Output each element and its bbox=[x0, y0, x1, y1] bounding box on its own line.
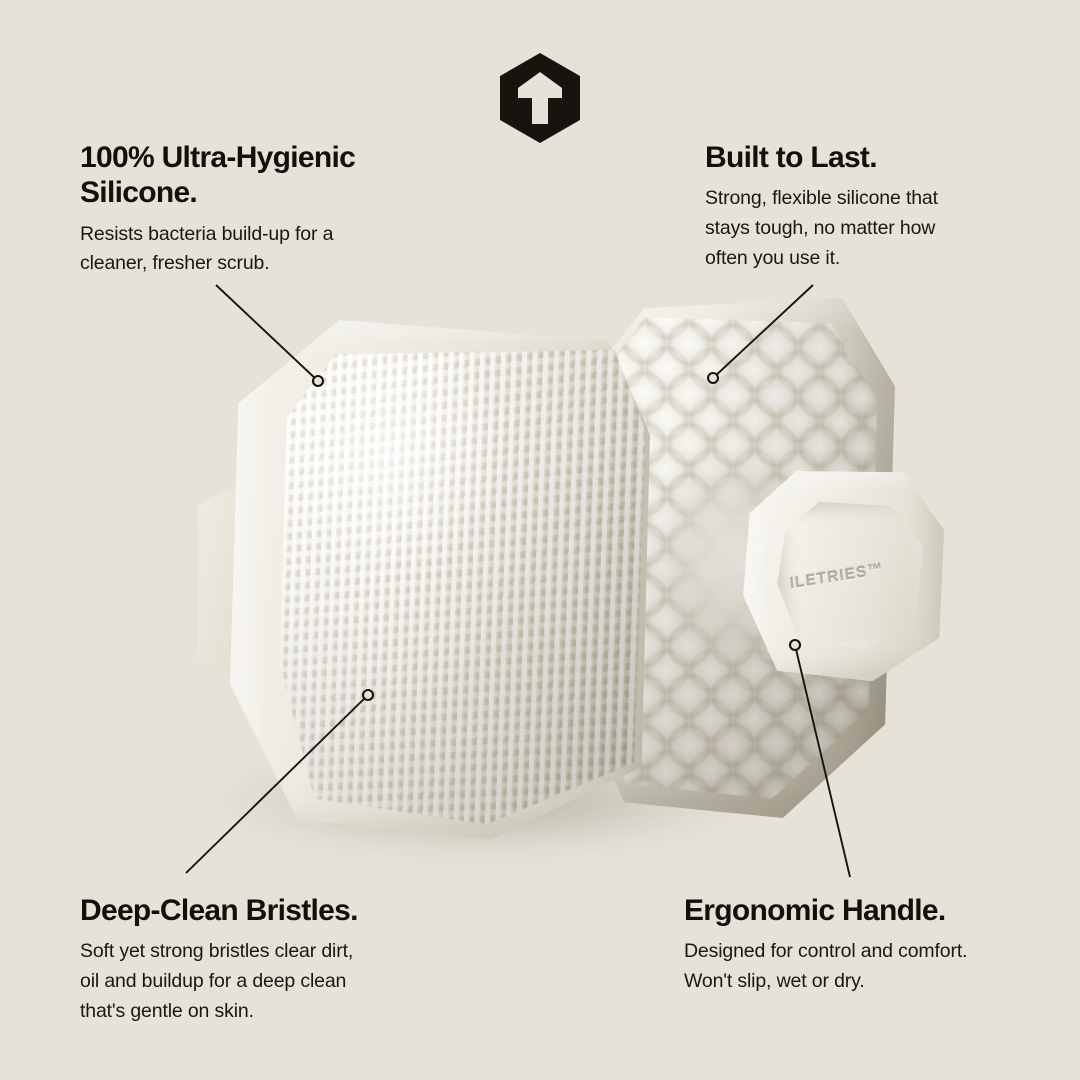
callout-bristles-body: Soft yet strong bristles clear dirt, oil… bbox=[80, 937, 425, 1026]
brand-logo-icon bbox=[498, 52, 582, 144]
bristle-shading bbox=[280, 333, 646, 827]
callout-durable-body: Strong, flexible silicone that stays tou… bbox=[705, 184, 1005, 273]
product-image-silicone-scrubber: ILETRIES™ bbox=[150, 290, 940, 850]
callout-durable-heading: Built to Last. bbox=[705, 140, 1005, 175]
product-bristle-head bbox=[230, 320, 650, 840]
callout-handle-body: Designed for control and comfort. Won't … bbox=[684, 937, 1014, 996]
callout-hygienic-heading: 100% Ultra-Hygienic Silicone. bbox=[80, 140, 410, 211]
product-ergonomic-handle: ILETRIES™ bbox=[735, 461, 954, 690]
callout-handle: Ergonomic Handle. Designed for control a… bbox=[684, 893, 1014, 997]
callout-durable: Built to Last. Strong, flexible silicone… bbox=[705, 140, 1005, 273]
bristle-field bbox=[280, 333, 646, 827]
callout-bristles: Deep-Clean Bristles. Soft yet strong bri… bbox=[80, 893, 425, 1026]
callout-hygienic: 100% Ultra-Hygienic Silicone. Resists ba… bbox=[80, 140, 410, 279]
callout-hygienic-body: Resists bacteria build-up for a cleaner,… bbox=[80, 220, 410, 279]
callout-handle-heading: Ergonomic Handle. bbox=[684, 893, 1014, 928]
callout-bristles-heading: Deep-Clean Bristles. bbox=[80, 893, 425, 928]
